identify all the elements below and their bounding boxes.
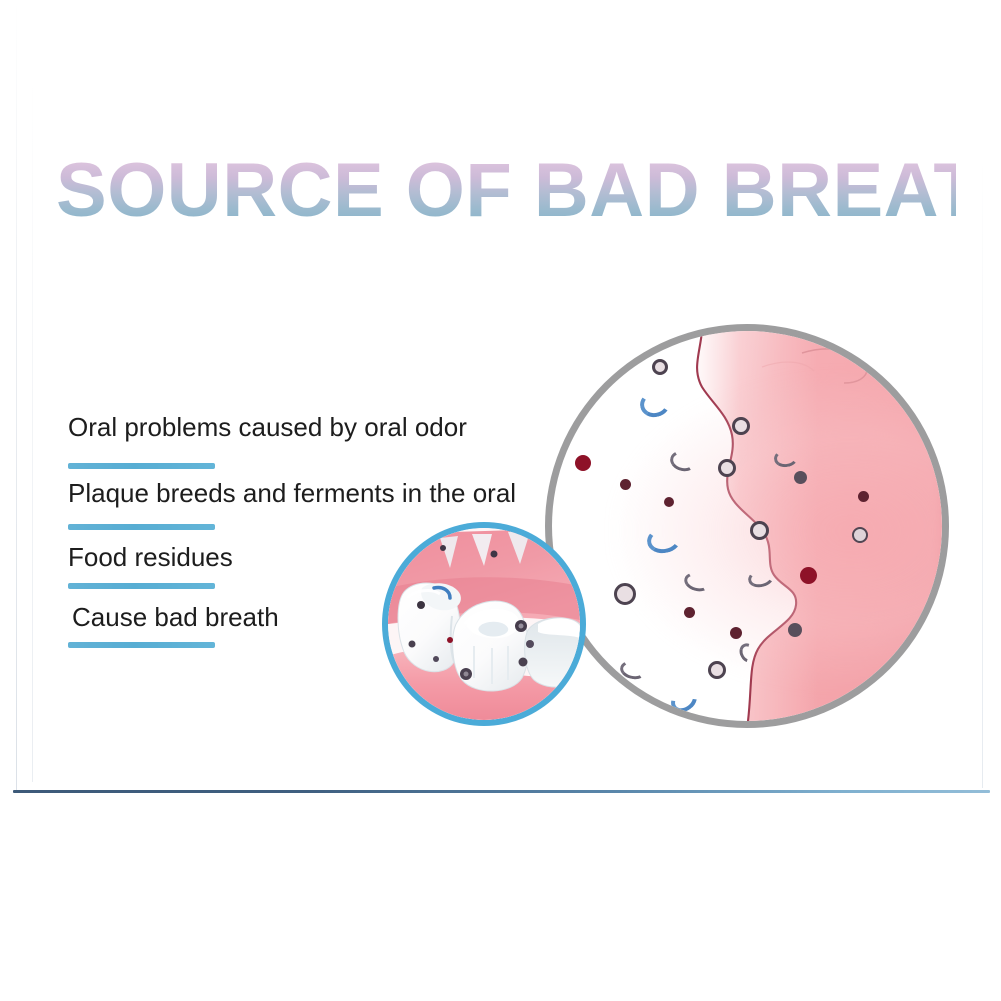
bullet-label-1: Oral problems caused by oral odor xyxy=(68,412,467,442)
bacteria-ring xyxy=(708,661,726,679)
frame-right-rule xyxy=(982,0,983,788)
bacteria-ring xyxy=(852,527,868,543)
bullet-underline-1 xyxy=(68,463,215,469)
bullet-label-3: Food residues xyxy=(68,542,233,572)
bacteria-red-dot xyxy=(664,497,674,507)
bacteria-red-dot xyxy=(730,627,742,639)
bacteria-gray-dot xyxy=(794,471,807,484)
bacteria-ring xyxy=(614,583,636,605)
mouth-bacteria-illustration xyxy=(552,331,942,721)
infographic-canvas: SOURCE OF BAD BREATH Oral problems cause… xyxy=(0,0,1001,1001)
bacteria-ring xyxy=(732,417,750,435)
frame-inner-rule xyxy=(32,0,33,782)
mouth-circle-inner xyxy=(552,331,942,721)
teeth-circle-inner xyxy=(388,528,580,720)
bacteria-red-dot xyxy=(800,567,817,584)
teeth-scene xyxy=(388,528,580,720)
bacteria-ring xyxy=(652,359,668,375)
bacteria-red-dot xyxy=(858,491,869,502)
bullet-underline-4 xyxy=(68,642,215,648)
bullet-label-4: Cause bad breath xyxy=(72,602,279,632)
teeth-closeup-illustration xyxy=(388,528,580,720)
bullet-underline-3 xyxy=(68,583,215,589)
bullet-label-2: Plaque breeds and ferments in the oral xyxy=(68,478,516,508)
bacteria-red-dot xyxy=(620,479,631,490)
bullet-underline-2 xyxy=(68,524,215,530)
bacteria-ring xyxy=(750,521,769,540)
bacteria-ring xyxy=(718,459,736,477)
page-title: SOURCE OF BAD BREATH xyxy=(56,148,956,234)
bacteria-red-dot xyxy=(684,607,695,618)
frame-left-rule xyxy=(16,0,17,793)
bacteria-gray-dot xyxy=(788,623,802,637)
frame-bottom-rule xyxy=(13,790,990,793)
bacteria-red-dot xyxy=(575,455,591,471)
